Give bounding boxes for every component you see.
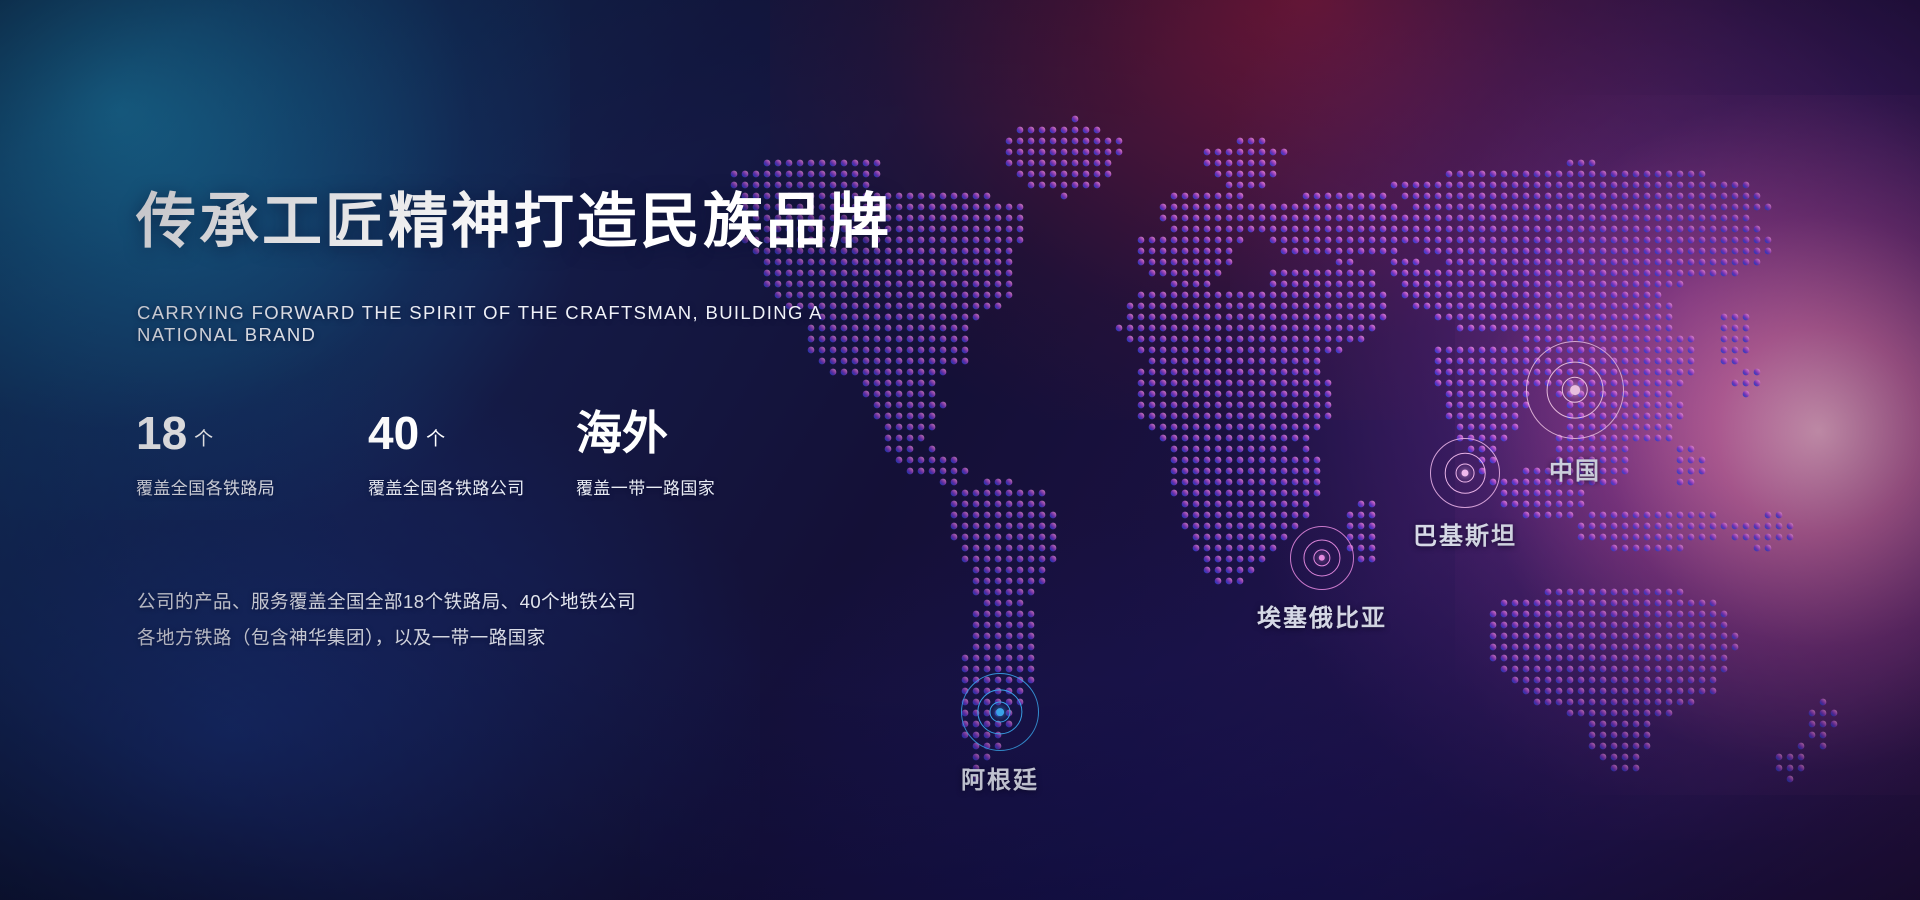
hero-banner: 中国巴基斯坦埃塞俄比亚阿根廷 传承工匠精神打造民族品牌 CARRYING FOR… <box>0 0 1920 900</box>
vignette-overlay <box>0 0 1920 900</box>
